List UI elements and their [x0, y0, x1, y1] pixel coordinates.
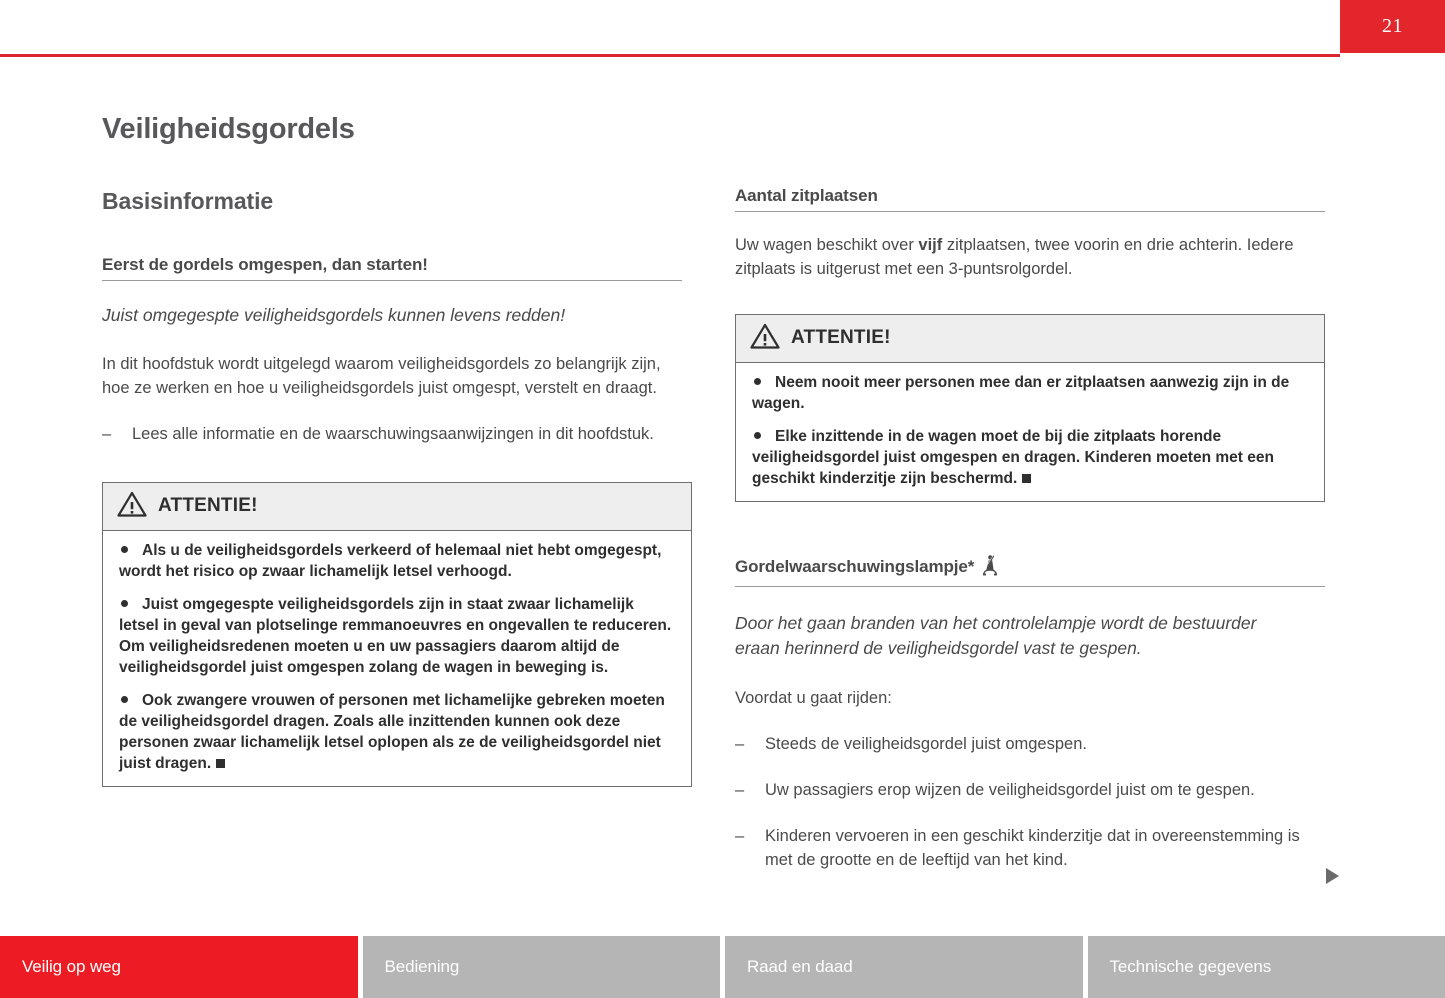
bullet-icon	[121, 546, 128, 553]
subheading-eerst-de-gordels: Eerst de gordels omgespen, dan starten!	[102, 255, 682, 281]
warning-item-text: Juist omgegespte veiligheidsgordels zijn…	[119, 596, 671, 676]
right-column: Aantal zitplaatsen Uw wagen beschikt ove…	[735, 56, 1335, 873]
list-item: – Steeds de veiligheidsgordel juist omge…	[735, 733, 1315, 757]
dash-list-left: – Lees alle informatie en de waarschuwin…	[102, 423, 677, 447]
page-number: 21	[1382, 15, 1403, 38]
page-body: Veiligheidsgordels Basisinformatie Eerst…	[0, 56, 1445, 926]
warning-item: Als u de veiligheidsgordels verkeerd of …	[119, 540, 675, 582]
footer-tab-bar: Veilig op weg Bediening Raad en daad Tec…	[0, 936, 1445, 998]
warning-box-right: ATTENTIE! Neem nooit meer personen mee d…	[735, 314, 1325, 502]
warning-item-text: Ook zwangere vrouwen of personen met lic…	[119, 692, 665, 772]
warning-box-header: ATTENTIE!	[736, 315, 1324, 363]
warning-item: Elke inzittende in de wagen moet de bij …	[752, 426, 1308, 489]
list-item-label: Kinderen vervoeren in een geschikt kinde…	[765, 827, 1300, 869]
warning-item: Ook zwangere vrouwen of personen met lic…	[119, 690, 675, 774]
paragraph-seats-pre: Uw wagen beschikt over	[735, 236, 918, 254]
footer-tab-bediening[interactable]: Bediening	[363, 936, 721, 998]
list-item-label: Uw passagiers erop wijzen de veiligheids…	[765, 781, 1255, 799]
end-of-section-mark	[216, 759, 225, 768]
warning-box-header: ATTENTIE!	[103, 483, 691, 531]
list-item: – Uw passagiers erop wijzen de veilighei…	[735, 779, 1315, 803]
list-item-label: Steeds de veiligheidsgordel juist omgesp…	[765, 735, 1087, 753]
warning-item-text: Elke inzittende in de wagen moet de bij …	[752, 428, 1274, 487]
continuation-arrow-icon	[1326, 868, 1339, 884]
paragraph-seats: Uw wagen beschikt over vijf zitplaatsen,…	[735, 234, 1325, 282]
left-column: Veiligheidsgordels Basisinformatie Eerst…	[102, 56, 702, 787]
lead-italic-text: Juist omgegespte veiligheidsgordels kunn…	[102, 303, 702, 328]
warning-item-text: Als u de veiligheidsgordels verkeerd of …	[119, 542, 661, 580]
warning-triangle-icon	[750, 323, 780, 354]
warning-box-label: ATTENTIE!	[158, 495, 258, 517]
subheading-gordelwaarschuwingslampje: Gordelwaarschuwingslampje*	[735, 554, 1325, 587]
list-item-label: Lees alle informatie en de waarschuwings…	[132, 425, 654, 443]
dash-marker: –	[102, 423, 111, 447]
warning-box-label: ATTENTIE!	[791, 327, 891, 349]
footer-tab-label: Raad en daad	[747, 957, 853, 977]
warning-item-text: Neem nooit meer personen mee dan er zitp…	[752, 374, 1289, 412]
section-title-basisinformatie: Basisinformatie	[102, 188, 702, 215]
subheading-aantal-zitplaatsen: Aantal zitplaatsen	[735, 186, 1325, 212]
label-before-driving: Voordat u gaat rijden:	[735, 687, 1335, 711]
seatbelt-warning-lamp-icon	[979, 554, 1001, 581]
end-of-section-mark	[1022, 474, 1031, 483]
page-number-block: 21	[1340, 0, 1445, 53]
page-header: 21	[0, 0, 1445, 56]
footer-tab-label: Veilig op weg	[22, 957, 121, 977]
chapter-title: Veiligheidsgordels	[102, 113, 702, 146]
warning-item: Neem nooit meer personen mee dan er zitp…	[752, 372, 1308, 414]
dash-marker: –	[735, 733, 744, 757]
lead-italic-lamp: Door het gaan branden van het controlela…	[735, 611, 1295, 661]
dash-marker: –	[735, 779, 744, 803]
warning-triangle-icon	[117, 491, 147, 522]
bullet-icon	[754, 432, 761, 439]
bullet-icon	[121, 600, 128, 607]
bullet-icon	[754, 378, 761, 385]
footer-tab-technische-gegevens[interactable]: Technische gegevens	[1088, 936, 1445, 998]
warning-box-body: Als u de veiligheidsgordels verkeerd of …	[103, 531, 691, 787]
dash-list-right: – Steeds de veiligheidsgordel juist omge…	[735, 733, 1315, 873]
bullet-icon	[121, 696, 128, 703]
list-item: – Kinderen vervoeren in een geschikt kin…	[735, 825, 1315, 873]
warning-box-body: Neem nooit meer personen mee dan er zitp…	[736, 363, 1324, 501]
subheading-label: Gordelwaarschuwingslampje*	[735, 557, 974, 576]
footer-tab-label: Technische gegevens	[1110, 957, 1272, 977]
list-item: – Lees alle informatie en de waarschuwin…	[102, 423, 677, 447]
warning-box-left: ATTENTIE! Als u de veiligheidsgordels ve…	[102, 482, 692, 788]
paragraph-seats-bold: vijf	[918, 236, 942, 254]
footer-tab-raad-en-daad[interactable]: Raad en daad	[725, 936, 1083, 998]
footer-tab-label: Bediening	[385, 957, 460, 977]
footer-tab-veilig-op-weg[interactable]: Veilig op weg	[0, 936, 358, 998]
warning-item: Juist omgegespte veiligheidsgordels zijn…	[119, 594, 675, 678]
dash-marker: –	[735, 825, 744, 849]
paragraph-intro: In dit hoofdstuk wordt uitgelegd waarom …	[102, 353, 662, 401]
